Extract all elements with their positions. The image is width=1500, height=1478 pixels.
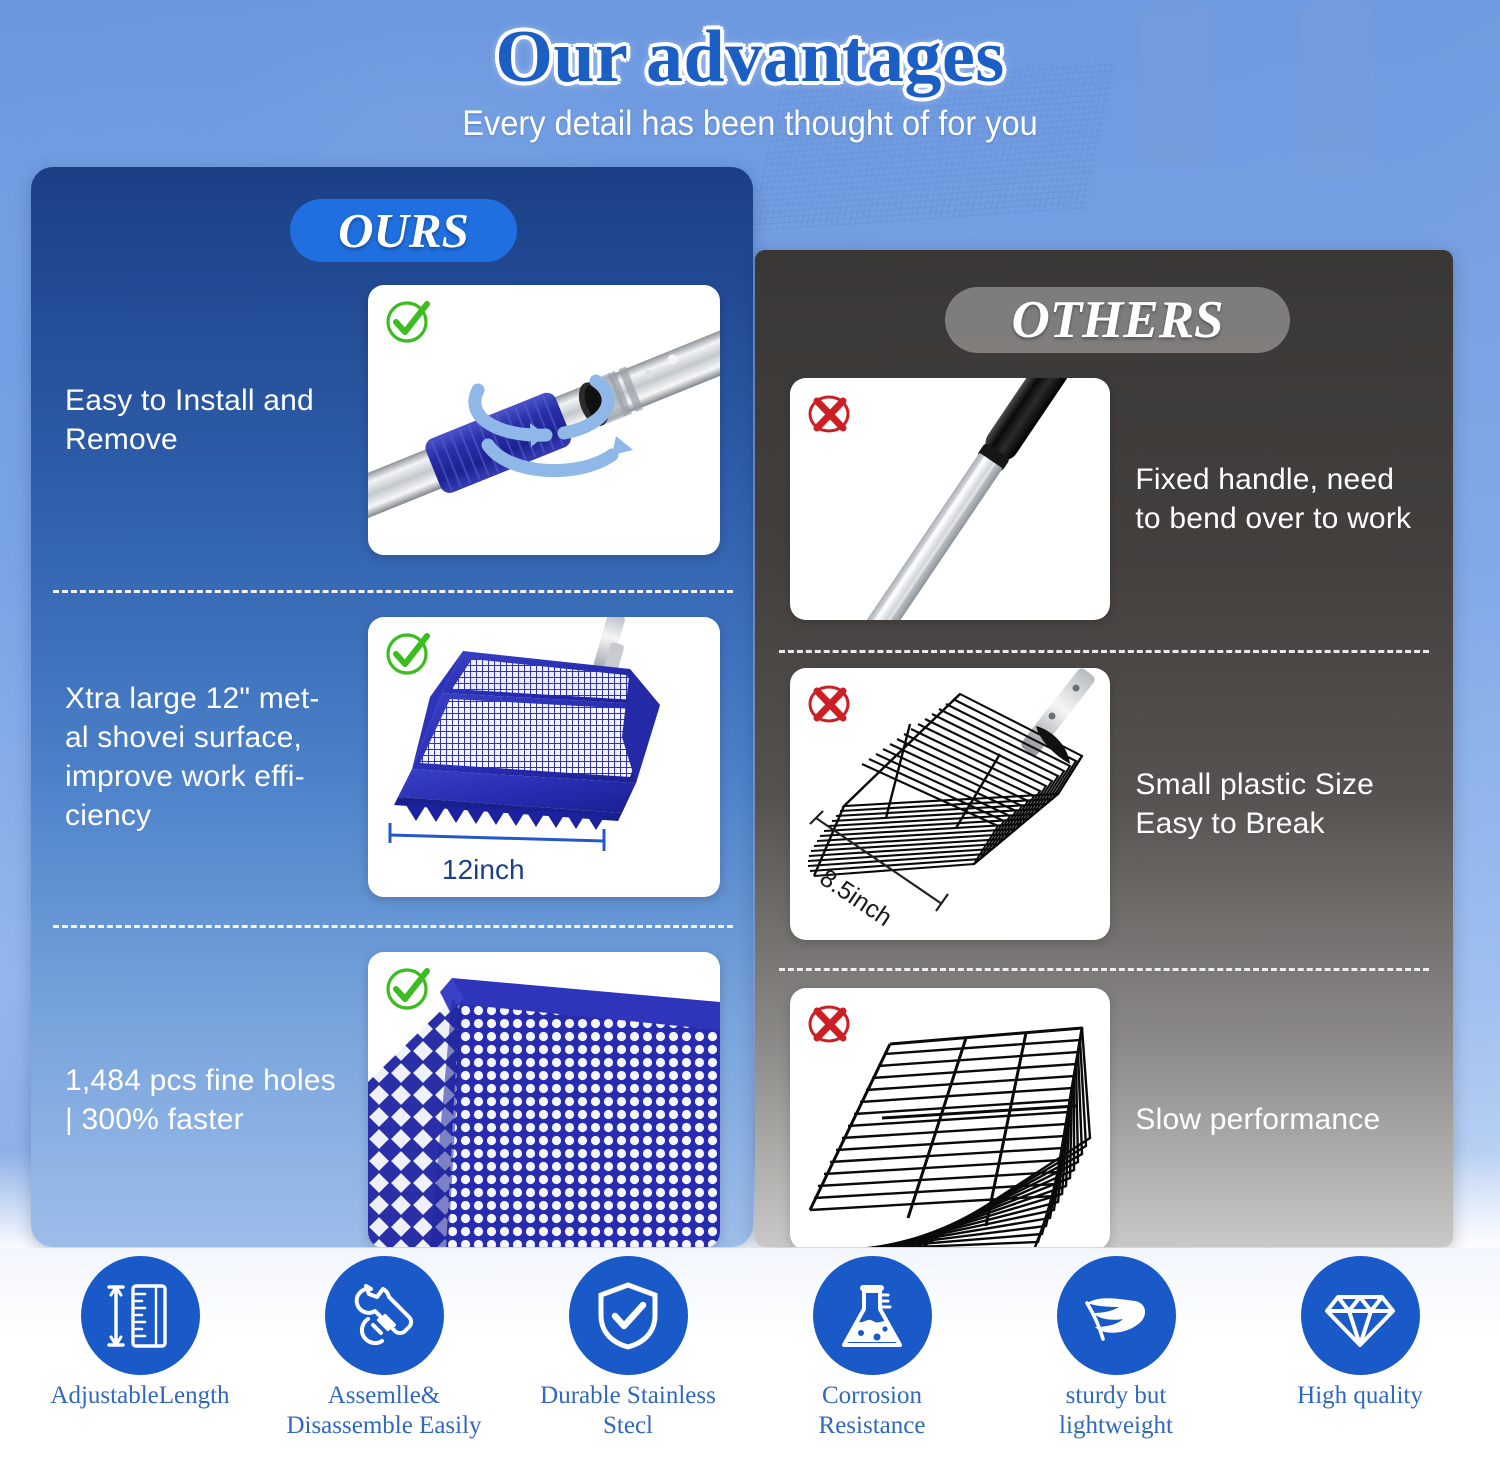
feature-item-lightweight: sturdy but lightweight <box>998 1256 1234 1441</box>
feature-item-assemble: Assemlle& Disassemble Easily <box>266 1256 502 1441</box>
others-row-2: 8.5inch Small plastic Size Easy to Break <box>790 668 1430 940</box>
shield-check-icon <box>569 1256 688 1375</box>
green-check-circle-icon <box>382 295 434 347</box>
others-panel: OTHERS <box>755 250 1453 1247</box>
ours-row-3-label: 1,484 pcs fine holes | 300% faster <box>65 1061 360 1139</box>
feature-item-high-quality: High quality <box>1242 1256 1478 1411</box>
others-divider-2 <box>779 968 1429 971</box>
feature-item-adjustable-length: AdjustableLength <box>22 1256 258 1411</box>
ours-row-2-image: 12inch <box>368 617 720 897</box>
ours-row-1-image <box>368 285 720 555</box>
others-badge: OTHERS <box>945 287 1290 353</box>
feature-label: Corrosion Resistance <box>754 1381 990 1441</box>
ours-row-2-label: Xtra large 12" met- al shovei surface, i… <box>65 679 360 835</box>
feather-icon <box>1057 1256 1176 1375</box>
red-cross-circle-icon <box>804 388 856 440</box>
ruler-length-icon <box>81 1256 200 1375</box>
feature-label: Durable Stainless Stecl <box>510 1381 746 1441</box>
others-row-3: Slow performance <box>790 988 1430 1247</box>
ours-divider-1 <box>53 590 733 593</box>
others-divider-1 <box>779 650 1429 653</box>
others-row-1-label: Fixed handle, need to bend over to work <box>1135 460 1430 538</box>
ours-row-1: Easy to Install and Remove <box>65 285 725 555</box>
infographic-canvas: Our advantages Every detail has been tho… <box>0 0 1500 1478</box>
diamond-icon <box>1301 1256 1420 1375</box>
green-check-circle-icon <box>382 627 434 679</box>
others-row-3-label: Slow performance <box>1135 1100 1430 1139</box>
feature-label: High quality <box>1242 1381 1478 1411</box>
ours-row-3-image <box>368 952 720 1247</box>
ours-badge: OURS <box>290 199 517 262</box>
others-row-1-image <box>790 378 1110 620</box>
dimension-12inch <box>390 823 604 851</box>
hand-wrench-icon <box>325 1256 444 1375</box>
feature-label: sturdy but lightweight <box>998 1381 1234 1441</box>
feature-strip: AdjustableLength Assemlle& Disassemble E… <box>0 1248 1500 1478</box>
feature-label: Assemlle& Disassemble Easily <box>266 1381 502 1441</box>
red-cross-circle-icon <box>804 998 856 1050</box>
feature-item-durable: Durable Stainless Stecl <box>510 1256 746 1441</box>
comparison-section: OURS Easy to Install and Remove <box>0 0 1500 1260</box>
red-cross-circle-icon <box>804 678 856 730</box>
feature-item-corrosion: Corrosion Resistance <box>754 1256 990 1441</box>
green-check-circle-icon <box>382 962 434 1014</box>
ours-divider-2 <box>53 925 733 928</box>
ours-row-2: Xtra large 12" met- al shovei surface, i… <box>65 617 725 897</box>
flask-icon <box>813 1256 932 1375</box>
others-row-3-image <box>790 988 1110 1247</box>
ours-row-3: 1,484 pcs fine holes | 300% faster <box>65 952 725 1247</box>
others-row-2-image: 8.5inch <box>790 668 1110 940</box>
ours-row-2-caption: 12inch <box>442 854 525 885</box>
feature-label: AdjustableLength <box>22 1381 258 1411</box>
ours-panel: OURS Easy to Install and Remove <box>31 167 753 1247</box>
ours-row-1-label: Easy to Install and Remove <box>65 381 360 459</box>
others-row-1: Fixed handle, need to bend over to work <box>790 378 1430 620</box>
others-row-2-label: Small plastic Size Easy to Break <box>1135 765 1430 843</box>
others-row-2-caption: 8.5inch <box>815 864 897 932</box>
